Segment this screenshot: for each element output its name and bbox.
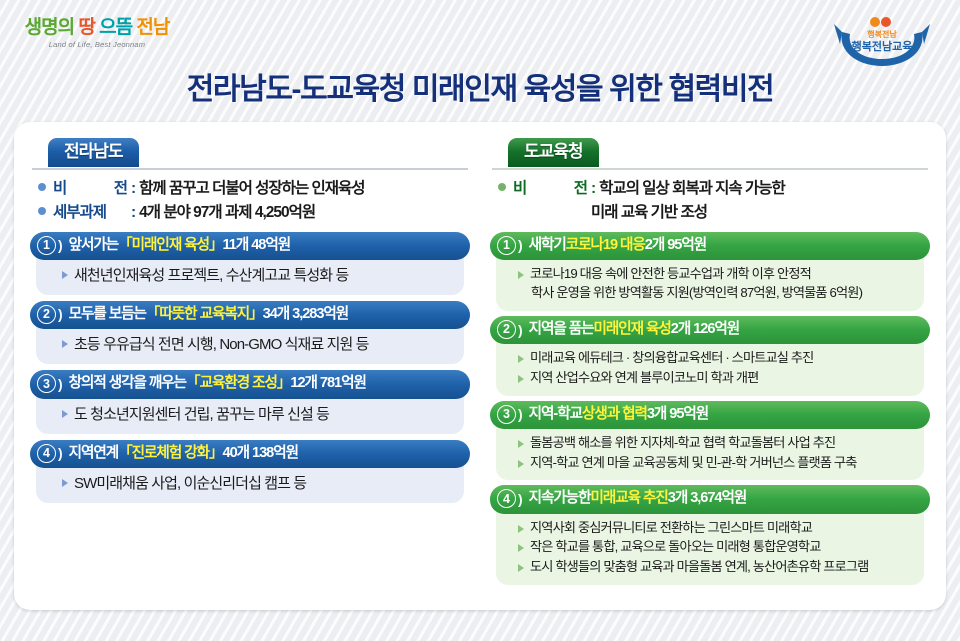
card-number-paren: ) xyxy=(518,489,522,509)
card-title-highlight: 「미래인재 육성」 xyxy=(118,235,222,256)
initiative-card-header: 4 ) 지역연계 「진로체험 강화」 40개 138억원 xyxy=(30,440,470,468)
initiative-card-header: 1 ) 앞서가는 「미래인재 육성」 11개 48억원 xyxy=(30,232,470,260)
card-number-badge: 2 xyxy=(497,320,516,339)
vision-text: 학교의 일상 회복과 지속 가능한 xyxy=(599,177,930,200)
initiative-card-body: 지역사회 중심커뮤니티로 전환하는 그린스마트 미래학교 작은 학교를 통합, … xyxy=(496,505,924,585)
detail-text: 학사 운영을 위한 방역활동 지원(방역인력 87억원, 방역물품 6억원) xyxy=(531,284,862,303)
card-title-highlight: 「진로체험 강화」 xyxy=(118,443,222,464)
card-number-badge: 4 xyxy=(37,444,56,463)
detail-line: 초등 우유급식 전면 시행, Non-GMO 식재료 지원 등 xyxy=(62,334,454,355)
vision-label-b: 전 xyxy=(114,177,127,200)
jeonnam-brand-logo: 생명의 땅 으뜸 전남 Land of Life, Best Jeonnam xyxy=(22,18,172,49)
detail-line: 작은 학교를 통합, 교육으로 돌아오는 미래형 통합운영학교 xyxy=(518,538,914,557)
card-title-prefix: 창의적 생각을 깨우는 xyxy=(69,373,186,394)
card-title-suffix: 11개 48억원 xyxy=(223,235,291,256)
initiative-card[interactable]: 1 ) 새학기 코로나19 대응 2개 95억원 코로나19 대응 속에 안전한… xyxy=(490,232,930,312)
vision-row: 비 전 : 함께 꿈꾸고 더불어 성장하는 인재육성 xyxy=(38,177,470,200)
detail-line: 도시 학생들의 맞춤형 교육과 마을돌봄 연계, 농산어촌유학 프로그램 xyxy=(518,558,914,577)
triangle-bullet-icon xyxy=(518,564,524,572)
card-number-badge: 3 xyxy=(497,405,516,424)
card-title-suffix: 3개 95억원 xyxy=(647,404,708,425)
vision-colon: : xyxy=(131,177,135,200)
detail-line: 돌봄공백 해소를 위한 지자체-학교 협력 학교돌봄터 사업 추진 xyxy=(518,434,914,453)
triangle-bullet-icon xyxy=(518,355,524,363)
vision-label: 비 전 xyxy=(53,177,127,200)
vision-text-line2: 미래 교육 기반 조성 xyxy=(591,201,930,224)
card-number-paren: ) xyxy=(58,304,62,324)
bullet-dot-icon xyxy=(498,183,506,191)
detail-text: 초등 우유급식 전면 시행, Non-GMO 식재료 지원 등 xyxy=(74,334,369,355)
card-title-prefix: 모두를 보듬는 xyxy=(69,304,146,325)
panel-tab-education-office: 도교육청 xyxy=(508,138,599,167)
detail-text: 코로나19 대응 속에 안전한 등교수업과 개학 이후 안정적 xyxy=(530,265,811,284)
detail-text: 새천년인재육성 프로젝트, 수산계고교 특성화 등 xyxy=(74,265,348,286)
detail-text: 지역-학교 연계 마을 교육공동체 및 민-관-학 거버넌스 플랫폼 구축 xyxy=(530,454,856,473)
vision-text: 함께 꿈꾸고 더불어 성장하는 인재육성 xyxy=(139,177,470,200)
card-title-suffix: 2개 95억원 xyxy=(645,235,706,256)
card-number-badge: 1 xyxy=(497,236,516,255)
jeonnam-education-office-logo: 행복전남 행복전남교육 xyxy=(828,10,936,72)
vision-row: 세부과제 : 4개 분야 97개 과제 4,250억원 xyxy=(38,201,470,224)
card-number-badge: 1 xyxy=(37,236,56,255)
logo-part-4: 전남 xyxy=(136,17,169,38)
card-title-highlight: 미래인재 육성 xyxy=(594,319,671,340)
detail-line: 지역-학교 연계 마을 교육공동체 및 민-관-학 거버넌스 플랫폼 구축 xyxy=(518,454,914,473)
initiative-card-header: 1 ) 새학기 코로나19 대응 2개 95억원 xyxy=(490,232,930,260)
triangle-bullet-icon xyxy=(62,410,68,418)
detail-line: 지역 산업수요와 연계 블루이코노미 학과 개편 xyxy=(518,369,914,388)
right-panel-cards: 1 ) 새학기 코로나19 대응 2개 95억원 코로나19 대응 속에 안전한… xyxy=(486,230,934,585)
card-title-suffix: 34개 3,283억원 xyxy=(263,304,349,325)
jeonnam-brand-tagline: Land of Life, Best Jeonnam xyxy=(22,40,172,49)
triangle-bullet-icon xyxy=(518,460,524,468)
initiative-card[interactable]: 1 ) 앞서가는 「미래인재 육성」 11개 48억원 새천년인재육성 프로젝트… xyxy=(30,232,470,295)
vision-label: 비 전 xyxy=(513,177,587,200)
logo-part-2: 땅 xyxy=(78,17,94,38)
card-title-prefix: 지역을 품는 xyxy=(529,319,594,340)
initiative-card-header: 3 ) 지역-학교 상생과 협력 3개 95억원 xyxy=(490,401,930,429)
initiative-card-header: 2 ) 지역을 품는 미래인재 육성 2개 126억원 xyxy=(490,316,930,344)
card-number-paren: ) xyxy=(518,404,522,424)
card-title-suffix: 2개 126억원 xyxy=(671,319,739,340)
detail-line: 새천년인재육성 프로젝트, 수산계고교 특성화 등 xyxy=(62,265,454,286)
left-panel-cards: 1 ) 앞서가는 「미래인재 육성」 11개 48억원 새천년인재육성 프로젝트… xyxy=(26,230,474,504)
initiative-card[interactable]: 2 ) 모두를 보듬는 「따뜻한 교육복지」 34개 3,283억원 초등 우유… xyxy=(30,301,470,364)
vision-colon: : xyxy=(131,201,135,224)
vision-label-b: 전 xyxy=(574,177,587,200)
initiative-card[interactable]: 3 ) 창의적 생각을 깨우는 「교육환경 조성」 12개 781억원 도 청소… xyxy=(30,370,470,433)
card-title-prefix: 지역연계 xyxy=(69,443,119,464)
initiative-card-header: 4 ) 지속가능한 미래교육 추진 3개 3,674억원 xyxy=(490,485,930,513)
triangle-bullet-icon xyxy=(62,271,68,279)
svg-text:행복전남: 행복전남 xyxy=(867,29,897,39)
card-number-badge: 2 xyxy=(37,305,56,324)
detail-text: 도시 학생들의 맞춤형 교육과 마을돌봄 연계, 농산어촌유학 프로그램 xyxy=(530,558,868,577)
initiative-card-body: 코로나19 대응 속에 안전한 등교수업과 개학 이후 안정적 학사 운영을 위… xyxy=(496,251,924,311)
triangle-bullet-icon xyxy=(62,340,68,348)
right-panel-vision-list: 비 전 : 학교의 일상 회복과 지속 가능한 미래 교육 기반 조성 xyxy=(486,170,934,230)
card-title-highlight: 「따뜻한 교육복지」 xyxy=(146,304,263,325)
panel-provincial-education-office: 도교육청 비 전 : 학교의 일상 회복과 지속 가능한 미래 교육 기반 조성 xyxy=(486,138,934,602)
svg-text:행복전남교육: 행복전남교육 xyxy=(852,39,913,53)
card-title-prefix: 지속가능한 xyxy=(529,488,591,509)
triangle-bullet-icon xyxy=(518,544,524,552)
page-header: 생명의 땅 으뜸 전남 Land of Life, Best Jeonnam 행… xyxy=(0,0,960,118)
card-title-highlight: 「교육환경 조성」 xyxy=(186,373,290,394)
card-title-suffix: 40개 138억원 xyxy=(223,443,298,464)
card-number-paren: ) xyxy=(518,320,522,340)
vision-colon: : xyxy=(591,177,595,200)
vision-row-continued: 미래 교육 기반 조성 xyxy=(498,201,930,224)
detail-line-continued: 학사 운영을 위한 방역활동 지원(방역인력 87억원, 방역물품 6억원) xyxy=(518,284,914,303)
triangle-bullet-icon xyxy=(518,440,524,448)
detail-line: 지역사회 중심커뮤니티로 전환하는 그린스마트 미래학교 xyxy=(518,519,914,538)
card-number-paren: ) xyxy=(58,374,62,394)
initiative-card-header: 2 ) 모두를 보듬는 「따뜻한 교육복지」 34개 3,283억원 xyxy=(30,301,470,329)
card-number-badge: 4 xyxy=(497,489,516,508)
card-number-paren: ) xyxy=(58,235,62,255)
triangle-bullet-icon xyxy=(518,271,524,279)
card-number-badge: 3 xyxy=(37,374,56,393)
detail-text: 도 청소년지원센터 건립, 꿈꾸는 마루 신설 등 xyxy=(74,404,329,425)
bullet-dot-icon xyxy=(38,183,46,191)
initiative-card[interactable]: 2 ) 지역을 품는 미래인재 육성 2개 126억원 미래교육 에듀테크 · … xyxy=(490,316,930,396)
initiative-card-header: 3 ) 창의적 생각을 깨우는 「교육환경 조성」 12개 781억원 xyxy=(30,370,470,398)
logo-part-1: 생명의 xyxy=(25,17,74,38)
detail-text: 지역 산업수요와 연계 블루이코노미 학과 개편 xyxy=(530,369,758,388)
detail-line: 도 청소년지원센터 건립, 꿈꾸는 마루 신설 등 xyxy=(62,404,454,425)
detail-line: SW미래채움 사업, 이순신리더십 캠프 등 xyxy=(62,473,454,494)
detail-line: 미래교육 에듀테크 · 창의융합교육센터 · 스마트교실 추진 xyxy=(518,349,914,368)
vision-row: 비 전 : 학교의 일상 회복과 지속 가능한 xyxy=(498,177,930,200)
card-number-paren: ) xyxy=(518,235,522,255)
card-title-prefix: 지역-학교 xyxy=(529,404,582,425)
initiative-card[interactable]: 3 ) 지역-학교 상생과 협력 3개 95억원 돌봄공백 해소를 위한 지자체… xyxy=(490,401,930,481)
card-title-highlight: 미래교육 추진 xyxy=(591,488,668,509)
triangle-bullet-icon xyxy=(62,479,68,487)
vision-label-a: 세부과제 xyxy=(53,201,106,224)
vision-board: 행복전남교육 전라남도 비 전 : 함께 꿈꾸고 더불어 성장하는 인재육성 xyxy=(14,122,946,610)
vision-label-a: 비 xyxy=(53,177,66,200)
card-title-highlight: 코로나19 대응 xyxy=(566,235,645,256)
page-title: 전라남도-도교육청 미래인재 육성을 위한 협력비전 xyxy=(0,64,960,108)
detail-text: 지역사회 중심커뮤니티로 전환하는 그린스마트 미래학교 xyxy=(530,519,812,538)
vision-text: 4개 분야 97개 과제 4,250억원 xyxy=(139,201,470,224)
detail-text: 작은 학교를 통합, 교육으로 돌아오는 미래형 통합운영학교 xyxy=(530,538,820,557)
initiative-card[interactable]: 4 ) 지속가능한 미래교육 추진 3개 3,674억원 지역사회 중심커뮤니티… xyxy=(490,485,930,584)
panel-jeonnam-province: 전라남도 비 전 : 함께 꿈꾸고 더불어 성장하는 인재육성 세부과제 xyxy=(26,138,474,602)
triangle-bullet-icon xyxy=(518,375,524,383)
detail-text: 돌봄공백 해소를 위한 지자체-학교 협력 학교돌봄터 사업 추진 xyxy=(530,434,835,453)
vision-label-a: 비 xyxy=(513,177,526,200)
jeonnam-brand-logo-mark: 생명의 땅 으뜸 전남 xyxy=(22,18,172,37)
detail-line: 코로나19 대응 속에 안전한 등교수업과 개학 이후 안정적 xyxy=(518,265,914,284)
logo-part-3: 으뜸 xyxy=(99,17,132,38)
vision-label: 세부과제 xyxy=(53,201,127,224)
initiative-card-body: 돌봄공백 해소를 위한 지자체-학교 협력 학교돌봄터 사업 추진 지역-학교 … xyxy=(496,420,924,480)
initiative-card[interactable]: 4 ) 지역연계 「진로체험 강화」 40개 138억원 SW미래채움 사업, … xyxy=(30,440,470,503)
triangle-bullet-icon xyxy=(518,525,524,533)
panel-tab-jeonnam-province: 전라남도 xyxy=(48,138,139,167)
card-title-prefix: 앞서가는 xyxy=(69,235,119,256)
left-panel-tab-row: 전라남도 xyxy=(26,138,474,168)
card-title-highlight: 상생과 협력 xyxy=(582,404,647,425)
card-number-paren: ) xyxy=(58,443,62,463)
right-panel-tab-row: 도교육청 xyxy=(486,138,934,168)
card-title-suffix: 3개 3,674억원 xyxy=(668,488,746,509)
detail-text: SW미래채움 사업, 이순신리더십 캠프 등 xyxy=(74,473,306,494)
initiative-card-body: 미래교육 에듀테크 · 창의융합교육센터 · 스마트교실 추진 지역 산업수요와… xyxy=(496,335,924,395)
card-title-prefix: 새학기 xyxy=(529,235,566,256)
left-panel-vision-list: 비 전 : 함께 꿈꾸고 더불어 성장하는 인재육성 세부과제 : 4개 분야 … xyxy=(26,170,474,230)
card-title-suffix: 12개 781억원 xyxy=(290,373,365,394)
detail-text: 미래교육 에듀테크 · 창의융합교육센터 · 스마트교실 추진 xyxy=(530,349,813,368)
bullet-dot-icon xyxy=(38,207,46,215)
